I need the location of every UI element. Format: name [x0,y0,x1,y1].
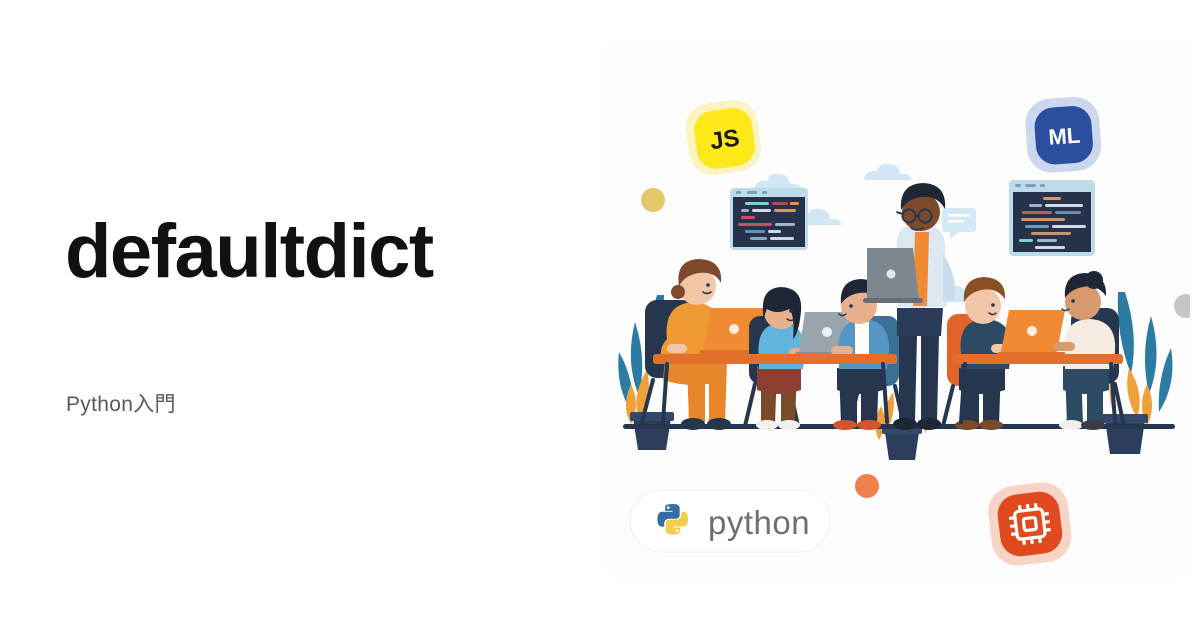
orange-dot [855,474,879,498]
desk-right [953,354,1123,364]
person-5 [1053,271,1115,430]
js-badge: JS [683,97,764,178]
team-coding-illustration: JS ML [605,40,1190,578]
chip-badge [985,479,1074,568]
chat-bubble-icon [942,208,976,239]
text-column: defaultdict Python入門 [0,0,600,630]
code-window-right [1009,180,1095,256]
illustration-panel: JS ML [605,40,1190,578]
gold-dot [641,188,665,212]
python-pill-label: python [708,504,810,541]
ml-badge-label: ML [1048,123,1081,150]
page-title: defaultdict [65,212,433,292]
code-window-left [730,188,808,250]
page-subtitle: Python入門 [66,388,176,418]
desk-left [653,354,897,364]
ml-badge: ML [1024,95,1103,174]
slide-root: defaultdict Python入門 [0,0,1200,630]
python-logo-pill: python [630,490,830,552]
illustration-column: JS ML [600,0,1200,630]
gray-dot [1174,294,1190,318]
js-badge-label: JS [708,124,741,155]
